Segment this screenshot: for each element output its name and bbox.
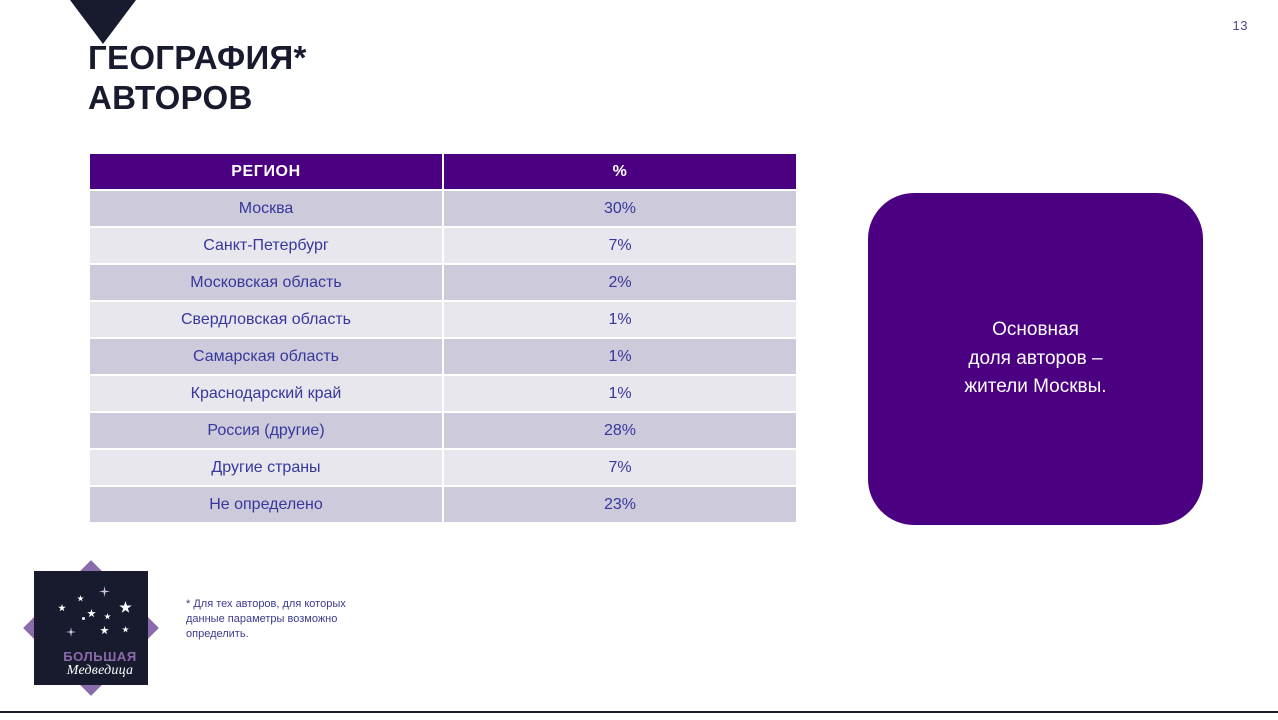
table-row: Не определено 23% — [90, 487, 796, 522]
table-cell-region: Москва — [90, 191, 442, 226]
table-cell-region: Не определено — [90, 487, 442, 522]
table-cell-value: 1% — [444, 302, 796, 337]
star-icon — [77, 595, 84, 602]
star-icon — [119, 601, 132, 614]
table-cell-value: 1% — [444, 376, 796, 411]
table-cell-value: 2% — [444, 265, 796, 300]
logo-word-top: БОЛЬШАЯ — [34, 649, 166, 664]
table-body: Москва 30% Санкт-Петербург 7% Московская… — [90, 191, 796, 522]
insight-callout-text: Основная доля авторов – жители Москвы. — [964, 316, 1106, 403]
star-icon — [100, 626, 109, 635]
table-cell-region: Московская область — [90, 265, 442, 300]
table-cell-value: 23% — [444, 487, 796, 522]
star-icon — [104, 613, 111, 620]
page-number: 13 — [1233, 18, 1248, 33]
logo-square-shape: БОЛЬШАЯ Медведица — [34, 571, 148, 685]
table-header-region: РЕГИОН — [90, 154, 442, 189]
table-header-percent: % — [444, 154, 796, 189]
table-cell-region: Краснодарский край — [90, 376, 442, 411]
table-cell-value: 7% — [444, 228, 796, 263]
star-dot-icon — [82, 617, 85, 620]
geography-table: РЕГИОН % Москва 30% Санкт-Петербург 7% М… — [88, 152, 798, 524]
table-header-row: РЕГИОН % — [90, 154, 796, 189]
table-row: Москва 30% — [90, 191, 796, 226]
table-cell-region: Другие страны — [90, 450, 442, 485]
page-title: ГЕОГРАФИЯ* АВТОРОВ — [88, 38, 307, 119]
slide-root: 13 ГЕОГРАФИЯ* АВТОРОВ РЕГИОН % Москва 30… — [0, 0, 1278, 720]
table-row: Краснодарский край 1% — [90, 376, 796, 411]
table-row: Московская область 2% — [90, 265, 796, 300]
insight-callout-box: Основная доля авторов – жители Москвы. — [868, 193, 1203, 525]
table-cell-region: Россия (другие) — [90, 413, 442, 448]
table-cell-region: Свердловская область — [90, 302, 442, 337]
star-icon — [122, 626, 129, 633]
logo-word-bottom: Медведица — [34, 663, 166, 679]
table-cell-region: Самарская область — [90, 339, 442, 374]
bottom-divider — [0, 711, 1278, 713]
table-cell-value: 28% — [444, 413, 796, 448]
brand-logo: БОЛЬШАЯ Медведица — [25, 557, 157, 700]
table-header: РЕГИОН % — [90, 154, 796, 189]
star-icon — [58, 604, 66, 612]
sparkle-icon — [66, 627, 76, 637]
table-row: Россия (другие) 28% — [90, 413, 796, 448]
table-row: Свердловская область 1% — [90, 302, 796, 337]
table-row: Санкт-Петербург 7% — [90, 228, 796, 263]
footnote-text: * Для тех авторов, для которых данные па… — [186, 597, 356, 642]
table-cell-value: 7% — [444, 450, 796, 485]
sparkle-icon — [99, 586, 110, 597]
star-icon — [87, 609, 96, 618]
table-row: Самарская область 1% — [90, 339, 796, 374]
table-cell-value: 30% — [444, 191, 796, 226]
table-row: Другие страны 7% — [90, 450, 796, 485]
table-cell-region: Санкт-Петербург — [90, 228, 442, 263]
table-cell-value: 1% — [444, 339, 796, 374]
